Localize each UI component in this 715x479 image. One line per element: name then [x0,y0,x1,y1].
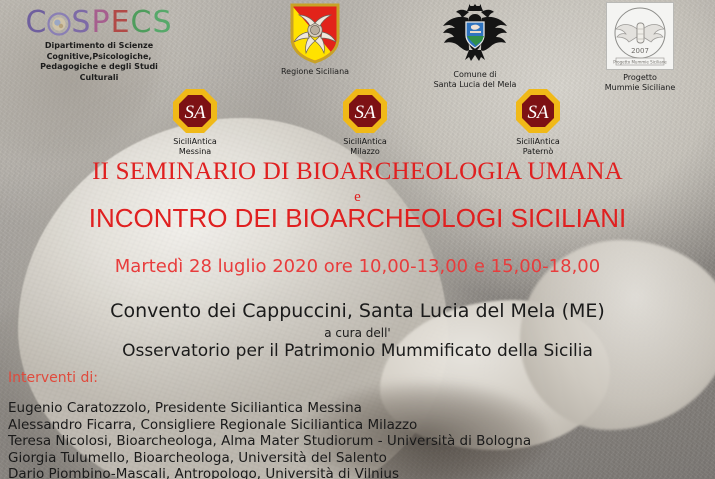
regione-siciliana-shield-icon [289,2,341,64]
mummie-year-text: 2007 [631,47,649,55]
speaker-item: Alessandro Ficarra, Consigliere Regional… [8,417,531,434]
cospecs-globe-icon [47,8,71,38]
cospecs-letter-o [47,8,71,38]
event-title-line-1: II SEMINARIO DI BIOARCHEOLOGIA UMANA [0,158,715,186]
sicilantica-monogram-text: SA [527,102,549,123]
sicilantica-paterno-caption: SiciliAntica Paternò [478,137,598,157]
event-organizer-prefix: a cura dell' [0,326,715,340]
event-venue: Convento dei Cappuccini, Santa Lucia del… [0,300,715,322]
logo-sicilantica-paterno: SA SiciliAntica Paternò [478,88,598,157]
event-poster: CSPECS Dipartimento di Scienze Cognitive… [0,0,715,479]
sicilantica-octagon-icon: SA [515,88,561,134]
mummie-logo-card-icon: 2007 Progetto Mummie Siciliane [606,2,674,70]
sicilantica-octagon-icon: SA [342,88,388,134]
sicilantica-monogram-text: SA [184,102,206,123]
cospecs-department-subtitle: Dipartimento di Scienze Cognitive,Psicol… [14,41,184,83]
cospecs-letter-e: E [111,8,131,38]
cospecs-letter-c2: C [131,8,153,38]
logo-comune-santa-lucia-del-mela: Comune di Santa Lucia del Mela [400,2,550,90]
event-title-line-2: INCONTRO DEI BIOARCHEOLOGI SICILIANI [0,203,715,234]
sicilantica-octagon-icon: SA [172,88,218,134]
speaker-item: Dario Piombino-Mascali, Antropologo, Uni… [8,466,531,479]
cospecs-letter-c1: C [25,8,47,38]
cospecs-letter-s1: S [71,8,91,38]
logo-sicilantica-milazzo: SA SiciliAntica Milazzo [305,88,425,157]
regione-siciliana-caption: Regione Siciliana [255,67,375,77]
comune-caption: Comune di Santa Lucia del Mela [400,70,550,90]
sicilantica-monogram-text: SA [354,102,376,123]
logo-cospecs: CSPECS Dipartimento di Scienze Cognitive… [14,8,184,83]
logo-progetto-mummie-siciliane: 2007 Progetto Mummie Siciliane Progetto … [570,2,710,93]
cospecs-letter-p: P [91,8,110,38]
cospecs-wordmark: CSPECS [14,8,184,38]
comune-eagle-shield-icon [439,2,511,68]
speakers-list: Eugenio Caratozzolo, Presidente Sicilian… [8,400,531,479]
event-organizer: Osservatorio per il Patrimonio Mummifica… [0,341,715,361]
speakers-heading: Interventi di: [8,370,98,386]
speaker-item: Teresa Nicolosi, Bioarcheologa, Alma Mat… [8,433,531,450]
logo-sicilantica-messina: SA SiciliAntica Messina [135,88,255,157]
logo-regione-siciliana: Regione Siciliana [255,2,375,77]
sicilantica-milazzo-caption: SiciliAntica Milazzo [305,137,425,157]
event-date-time: Martedì 28 luglio 2020 ore 10,00-13,00 e… [0,256,715,277]
mummie-inner-label-text: Progetto Mummie Siciliane [613,60,667,65]
cospecs-letter-s2: S [152,8,172,38]
speaker-item: Giorgia Tulumello, Bioarcheologa, Univer… [8,450,531,467]
sponsor-logo-row: CSPECS Dipartimento di Scienze Cognitive… [0,0,715,95]
sicilantica-messina-caption: SiciliAntica Messina [135,137,255,157]
speaker-item: Eugenio Caratozzolo, Presidente Sicilian… [8,400,531,417]
